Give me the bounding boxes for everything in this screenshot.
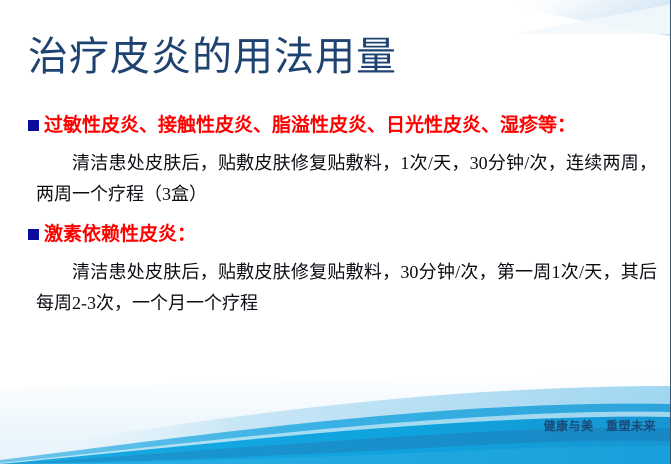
page-title: 治疗皮炎的用法用量	[28, 33, 397, 81]
footer-wave-bottom	[0, 446, 671, 464]
section-heading-hormone-dependent-dermatitis: 激素依赖性皮炎：	[0, 221, 671, 248]
section-heading-allergic-dermatitis: 过敏性皮炎、接触性皮炎、脂溢性皮炎、日光性皮炎、湿疹等：	[0, 112, 671, 139]
slide-canvas: 治疗皮炎的用法用量 过敏性皮炎、接触性皮炎、脂溢性皮炎、日光性皮炎、湿疹等： 清…	[0, 0, 671, 464]
top-right-wisp-decoration	[505, 0, 671, 36]
square-bullet-icon	[28, 229, 39, 240]
section-heading-text: 激素依赖性皮炎：	[44, 224, 196, 245]
section-body-text: 清洁患处皮肤后，贴敷皮肤修复贴敷料，30分钟/次，第一周1次/天，其后每周2-3…	[36, 257, 657, 319]
section-heading-text: 过敏性皮炎、接触性皮炎、脂溢性皮炎、日光性皮炎、湿疹等：	[44, 115, 576, 136]
footer-tagline: 健康与美 重塑未来	[543, 418, 656, 434]
section-body-text: 清洁患处皮肤后，贴敷皮肤修复贴敷料，1次/天，30分钟/次，连续两周，两周一个疗…	[36, 148, 657, 210]
section-body-hormone-dependent-dermatitis: 清洁患处皮肤后，贴敷皮肤修复贴敷料，30分钟/次，第一周1次/天，其后每周2-3…	[0, 257, 671, 319]
section-body-allergic-dermatitis: 清洁患处皮肤后，贴敷皮肤修复贴敷料，1次/天，30分钟/次，连续两周，两周一个疗…	[0, 148, 671, 210]
square-bullet-icon	[28, 120, 39, 131]
slide-content: 过敏性皮炎、接触性皮炎、脂溢性皮炎、日光性皮炎、湿疹等： 清洁患处皮肤后，贴敷皮…	[0, 112, 671, 330]
